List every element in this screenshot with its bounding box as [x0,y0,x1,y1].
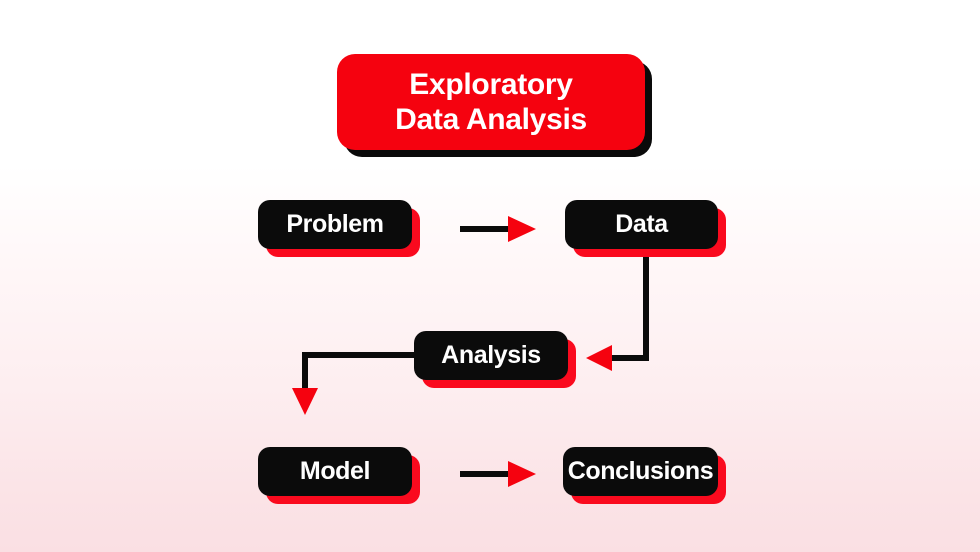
flow-node-data[interactable]: Data [565,200,718,249]
title-line-1: Exploratory [409,67,572,102]
node-label-conclusions: Conclusions [563,447,718,496]
arrow-problem-to-data [460,216,536,242]
flow-node-problem[interactable]: Problem [258,200,412,249]
title-banner-box: Exploratory Data Analysis [337,54,645,150]
flow-node-analysis[interactable]: Analysis [414,331,568,380]
node-label-problem: Problem [258,200,412,249]
diagram-title-banner: Exploratory Data Analysis [337,54,645,150]
arrow-data-to-analysis [586,257,646,371]
arrow-analysis-to-model [292,355,414,415]
flow-node-conclusions[interactable]: Conclusions [563,447,718,496]
node-label-data: Data [565,200,718,249]
arrow-model-to-conclusions [460,461,536,487]
diagram-canvas: Exploratory Data Analysis Problem Data A… [0,0,980,552]
node-label-model: Model [258,447,412,496]
flow-node-model[interactable]: Model [258,447,412,496]
title-line-2: Data Analysis [395,102,587,137]
node-label-analysis: Analysis [414,331,568,380]
